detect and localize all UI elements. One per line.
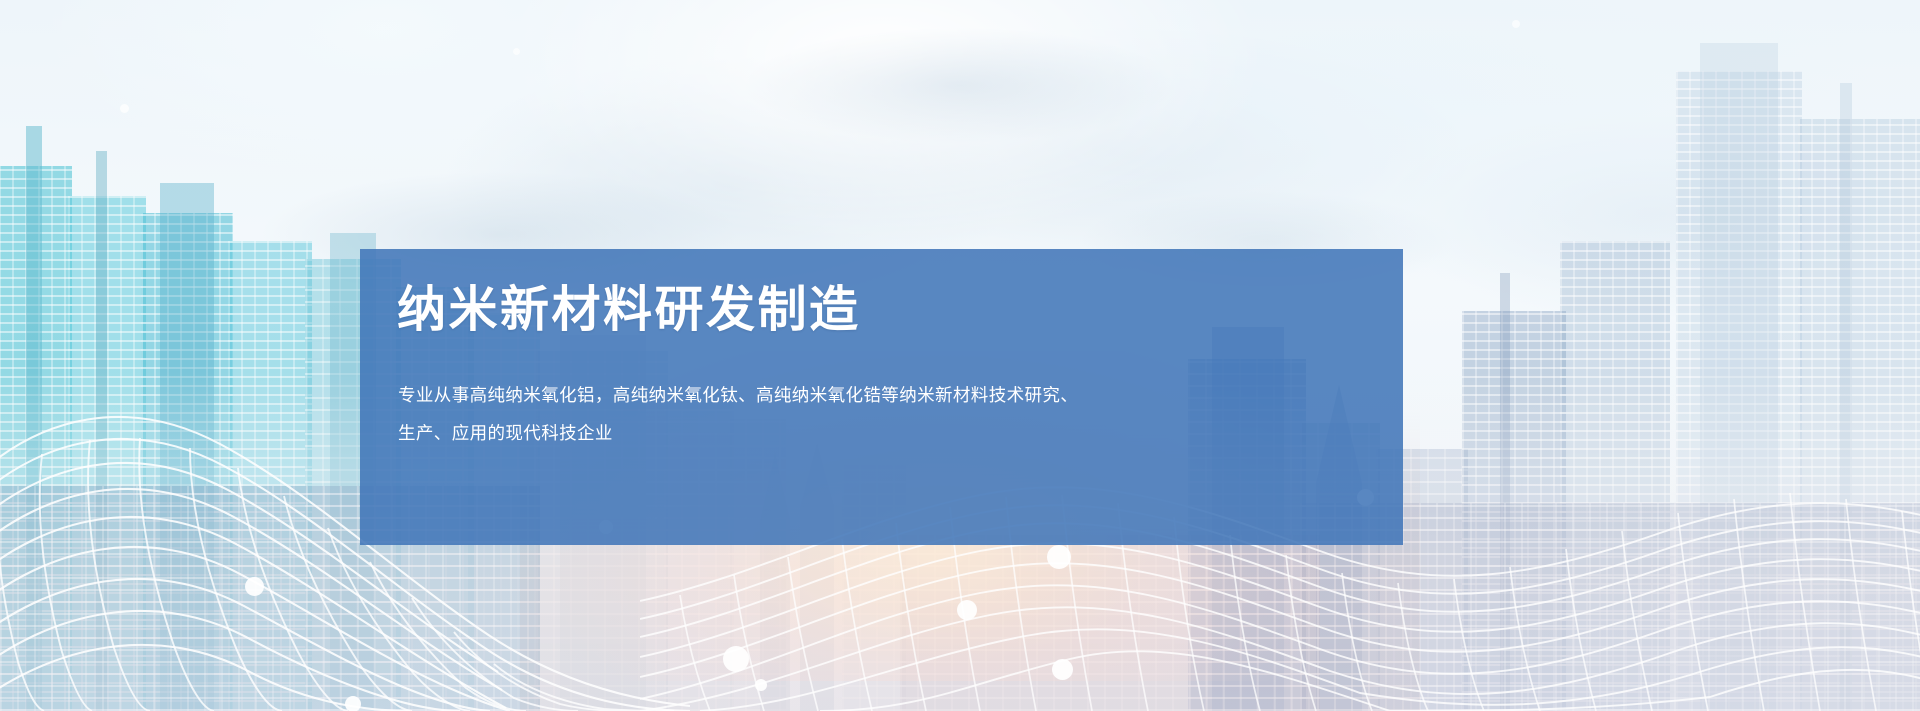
mesh-node-dot [1047,545,1071,569]
building-right-4 [1560,241,1670,711]
building-left-1-cap [26,126,42,711]
building-left-3-crown [160,183,214,711]
mesh-node-dot [245,577,264,596]
building-right-5-mast [1840,83,1852,711]
building-right-tall [1676,71,1802,711]
building-right-tall-crown [1700,43,1778,711]
hero-text-panel: 纳米新材料研发制造 专业从事高纯纳米氧化铝，高纯纳米氧化钛、高纯纳米氧化锆等纳米… [360,249,1403,545]
building-left-1 [0,166,72,711]
building-right-3 [1462,311,1566,711]
building-right-5 [1798,119,1920,711]
mesh-node-dot [755,679,767,691]
mesh-node-dot [1052,659,1073,680]
building-left-3 [141,213,233,711]
mesh-node-dot [513,48,520,55]
hero-subtitle-line-1: 专业从事高纯纳米氧化铝，高纯纳米氧化钛、高纯纳米氧化锆等纳米新材料技术研究、 [398,376,1188,414]
building-foreground-band-mid [900,535,1320,711]
building-left-2 [68,196,146,711]
hero-subtitle-line-2: 生产、应用的现代科技企业 [398,414,1188,452]
mesh-node-dot [345,696,361,711]
mesh-node-dot [957,600,977,620]
building-right-3-mast [1500,273,1510,711]
mesh-node-dot [723,646,749,672]
hero-banner: 纳米新材料研发制造 专业从事高纯纳米氧化铝，高纯纳米氧化钛、高纯纳米氧化锆等纳米… [0,0,1920,711]
building-left-4 [228,241,312,711]
hero-text-panel-inner: 纳米新材料研发制造 专业从事高纯纳米氧化铝，高纯纳米氧化钛、高纯纳米氧化锆等纳米… [397,249,1363,545]
page-title: 纳米新材料研发制造 [397,282,861,338]
hero-subtitle: 专业从事高纯纳米氧化铝，高纯纳米氧化钛、高纯纳米氧化锆等纳米新材料技术研究、 生… [398,376,1188,452]
building-left-2-mast [96,151,107,711]
mesh-node-dot [1512,20,1520,28]
mesh-node-dot [120,104,129,113]
